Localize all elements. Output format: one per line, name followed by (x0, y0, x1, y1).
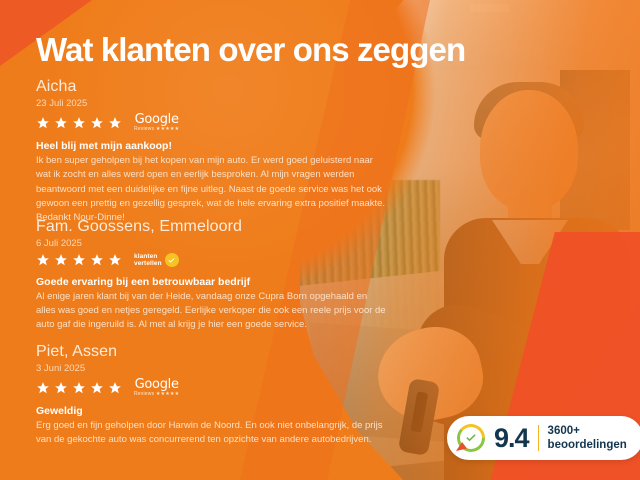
star-icon (36, 253, 50, 267)
star-icon (72, 381, 86, 395)
star-rating (36, 253, 122, 267)
star-icon (108, 116, 122, 130)
star-rating (36, 116, 122, 130)
review-card: Fam. Goossens, Emmeloord 6 Juli 2025 kla… (36, 218, 386, 333)
star-icon (36, 381, 50, 395)
star-rating (36, 381, 122, 395)
testimonial-banner: VDH Wat klanten over ons zeggen Aicha 23… (0, 0, 640, 480)
score-value: 9.4 (494, 423, 529, 454)
google-logo-text: Google (134, 378, 179, 391)
review-card: Aicha 23 Juli 2025 Google Reviews ★★★★★ … (36, 78, 386, 225)
checkmark-badge-icon (165, 253, 179, 267)
star-icon (108, 381, 122, 395)
star-icon (36, 116, 50, 130)
klantenvertellen-logo-icon (457, 424, 485, 452)
klantenvertellen-badge: klanten vertellen (134, 253, 179, 268)
review-date: 23 Juli 2025 (36, 98, 386, 109)
review-body: Erg goed en fijn geholpen door Harwin de… (36, 419, 386, 448)
review-heading: Goede ervaring bij een betrouwbaar bedri… (36, 276, 386, 288)
star-icon (90, 381, 104, 395)
page-title: Wat klanten over ons zeggen (36, 31, 465, 69)
google-reviews-badge: Google Reviews ★★★★★ (134, 113, 179, 132)
reviewer-name: Fam. Goossens, Emmeloord (36, 218, 386, 236)
review-date: 6 Juli 2025 (36, 238, 386, 249)
review-heading: Heel blij met mijn aankoop! (36, 140, 386, 152)
review-card: Piet, Assen 3 Juni 2025 Google Reviews ★… (36, 343, 386, 448)
google-reviews-badge: Google Reviews ★★★★★ (134, 378, 179, 397)
star-icon (54, 116, 68, 130)
star-icon (54, 253, 68, 267)
divider (538, 425, 539, 451)
review-count-label: beoordelingen (548, 438, 627, 452)
star-icon (72, 116, 86, 130)
review-body: Ik ben super geholpen bij het kopen van … (36, 154, 386, 225)
klantenvertellen-line2: vertellen (134, 260, 162, 267)
google-reviews-subtext: Reviews ★★★★★ (134, 392, 179, 397)
review-date: 3 Juni 2025 (36, 363, 386, 374)
google-reviews-subtext: Reviews ★★★★★ (134, 127, 179, 132)
score-badge: 9.4 3600+ beoordelingen (447, 416, 640, 460)
google-logo-text: Google (134, 113, 179, 126)
star-icon (108, 253, 122, 267)
review-body: Al enige jaren klant bij van der Heide, … (36, 290, 386, 333)
klantenvertellen-line1: klanten (134, 253, 162, 260)
star-icon (54, 381, 68, 395)
reviewer-name: Aicha (36, 78, 386, 96)
star-icon (90, 116, 104, 130)
star-icon (90, 253, 104, 267)
review-count: 3600+ (548, 424, 627, 438)
star-icon (72, 253, 86, 267)
review-heading: Geweldig (36, 405, 386, 417)
reviewer-name: Piet, Assen (36, 343, 386, 361)
